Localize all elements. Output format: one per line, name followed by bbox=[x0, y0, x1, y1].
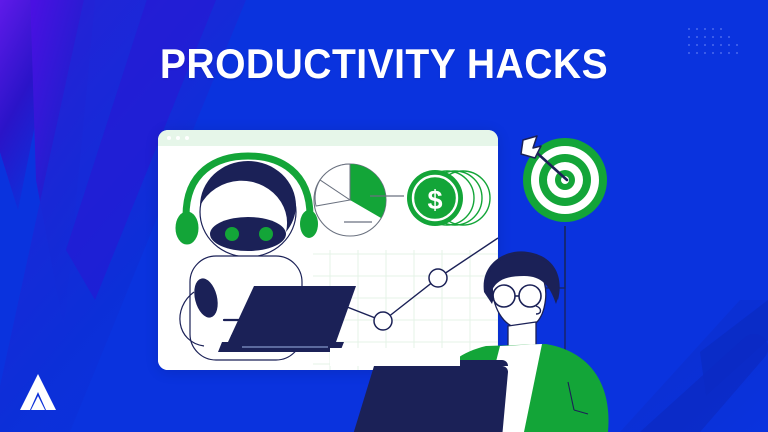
triangle-arrow-logo[interactable] bbox=[18, 372, 58, 414]
browser-titlebar bbox=[158, 130, 498, 146]
window-dot-icon bbox=[176, 136, 180, 140]
laptop-base-strip bbox=[330, 348, 460, 366]
chart-node bbox=[374, 312, 392, 330]
productivity-workspace-illustration: $ bbox=[0, 0, 768, 432]
window-dot-icon bbox=[167, 136, 171, 140]
foreground-laptop-icon bbox=[352, 358, 552, 432]
window-dot-icon bbox=[185, 136, 189, 140]
poster-canvas: PRODUCTIVITY HACKS bbox=[0, 0, 768, 432]
